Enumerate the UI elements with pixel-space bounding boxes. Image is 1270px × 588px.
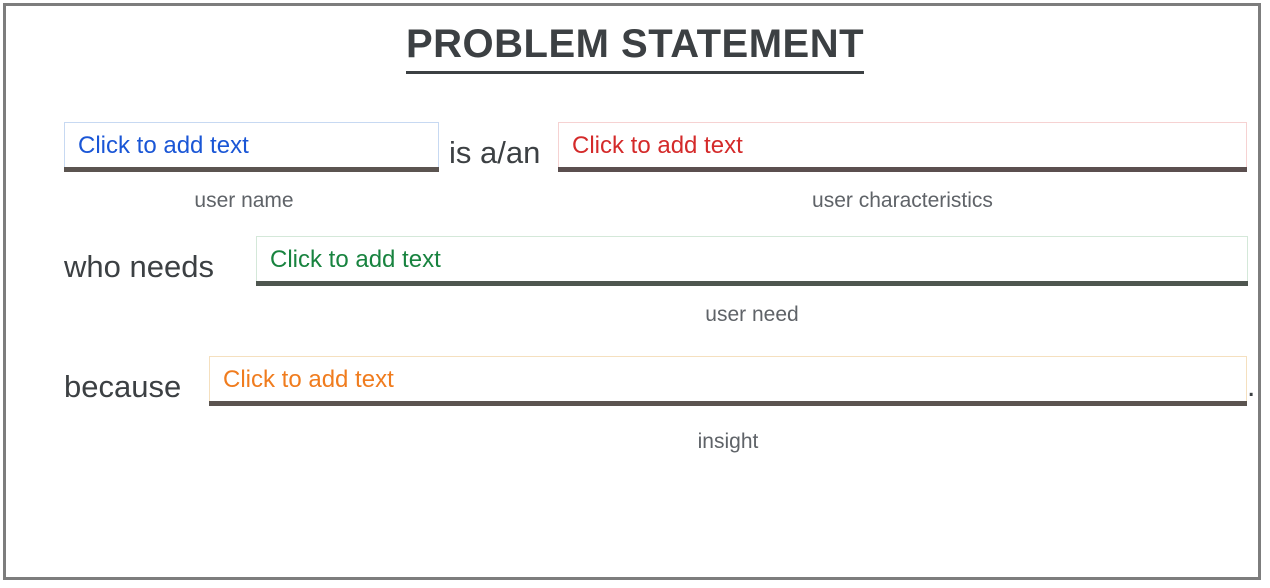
user-need-underline bbox=[256, 281, 1248, 286]
page-title: PROBLEM STATEMENT bbox=[6, 22, 1264, 74]
user-name-placeholder: Click to add text bbox=[65, 134, 249, 158]
user-need-caption: user need bbox=[256, 304, 1248, 325]
insight-field[interactable]: Click to add text bbox=[209, 356, 1247, 403]
insight-underline bbox=[209, 401, 1247, 406]
user-characteristics-placeholder: Click to add text bbox=[559, 134, 743, 158]
user-characteristics-underline bbox=[558, 167, 1247, 172]
user-name-field[interactable]: Click to add text bbox=[64, 122, 439, 169]
user-characteristics-caption: user characteristics bbox=[558, 190, 1247, 211]
user-characteristics-field[interactable]: Click to add text bbox=[558, 122, 1247, 169]
user-name-underline bbox=[64, 167, 439, 172]
user-need-placeholder: Click to add text bbox=[257, 248, 441, 272]
user-need-field[interactable]: Click to add text bbox=[256, 236, 1248, 283]
connector-is-a-an: is a/an bbox=[449, 137, 540, 168]
slide-frame: PROBLEM STATEMENT Click to add text user… bbox=[3, 3, 1261, 580]
user-name-caption: user name bbox=[64, 190, 424, 211]
insight-caption: insight bbox=[209, 431, 1247, 452]
insight-placeholder: Click to add text bbox=[210, 368, 394, 392]
connector-who-needs: who needs bbox=[64, 251, 214, 282]
connector-because: because bbox=[64, 371, 181, 402]
page-title-text: PROBLEM STATEMENT bbox=[406, 22, 864, 74]
sentence-period: . bbox=[1247, 372, 1255, 402]
